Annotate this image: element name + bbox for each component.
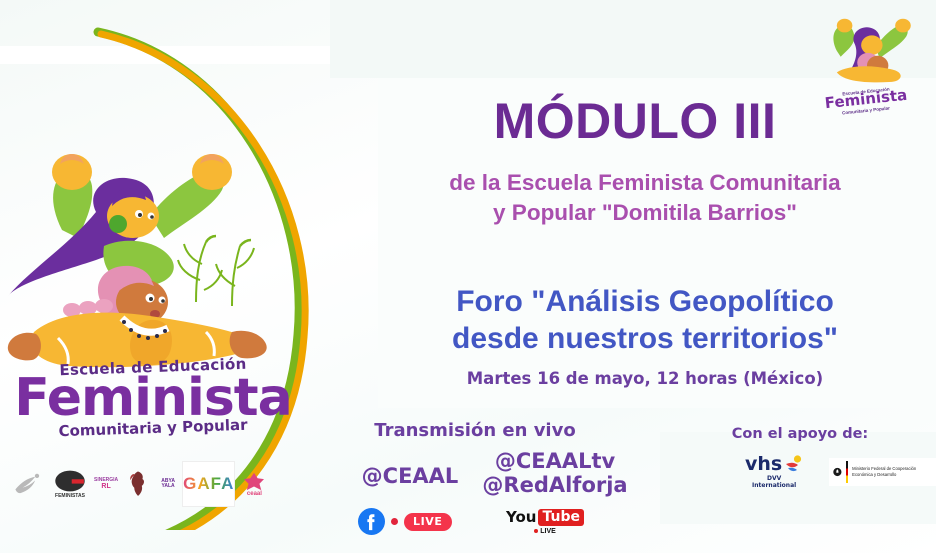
colibri-logo: [10, 462, 46, 506]
vhs-dvv-international-logo: vhs DVV International: [745, 455, 803, 489]
forum-title: Foro "Análisis Geopolítico desde nuestro…: [400, 283, 890, 357]
badge-illustration: [814, 12, 918, 84]
youtube-handle-ceaaltv[interactable]: @CEAALtv: [470, 450, 640, 474]
facebook-live-label: LIVE: [404, 513, 452, 531]
facebook-live-badge[interactable]: LIVE: [358, 508, 452, 535]
partner-logos-row: FEMINISTAS SINERGIA RL ABYA YALA GAFA ce…: [10, 458, 260, 510]
facebook-icon[interactable]: [358, 508, 385, 535]
youtube-live-dot-icon: [534, 529, 538, 533]
plant-decoration: [178, 236, 254, 306]
german-ministry-text: Ministerio Federal de Cooperación Económ…: [852, 466, 932, 477]
forum-title-line-1: Foro "Análisis Geopolítico: [400, 283, 890, 320]
school-subtitle: de la Escuela Feminista Comunitaria y Po…: [390, 168, 900, 227]
red-de-mujeres-logo: FEMINISTAS: [51, 462, 89, 506]
youtube-live-badge[interactable]: You Tube LIVE: [505, 508, 585, 535]
red-de-mujeres-label: FEMINISTAS: [55, 494, 85, 499]
abya-yala-label: ABYA YALA: [159, 479, 177, 490]
live-dot-icon: [391, 518, 398, 525]
ceaal-label: ceaal: [247, 491, 262, 497]
german-flag-bar: [846, 461, 848, 483]
module-title: MÓDULO III: [400, 92, 870, 150]
youtube-live-label: LIVE: [540, 528, 556, 535]
ceaal-logo: ceaal: [240, 462, 268, 506]
forum-title-line-2: desde nuestros territorios": [400, 320, 890, 357]
subtitle-line-1: de la Escuela Feminista Comunitaria: [390, 168, 900, 198]
youtube-handles[interactable]: @CEAALtv @RedAlforja: [470, 450, 640, 497]
vhs-dots-icon: [783, 455, 803, 473]
youtube-handle-redalforja[interactable]: @RedAlforja: [470, 474, 640, 498]
youtube-live-label-wrap: LIVE: [505, 528, 585, 535]
youtube-you-text: You: [506, 508, 536, 526]
facebook-handle[interactable]: @CEAAL: [340, 464, 480, 488]
youtube-tube-text: Tube: [538, 509, 584, 526]
gafa-logo: GAFA: [182, 461, 235, 507]
abya-yala-map-logo: ABYA YALA: [123, 462, 177, 506]
subtitle-line-2: y Popular "Domitila Barrios": [390, 198, 900, 228]
youtube-logo[interactable]: You Tube: [506, 508, 584, 526]
sponsor-logos-row: vhs DVV International Ministerio Federal…: [745, 455, 936, 489]
support-heading: Con el apoyo de:: [700, 426, 900, 442]
sinergia-logo: SINERGIA RL: [94, 462, 118, 506]
event-datetime: Martes 16 de mayo, 12 horas (México): [400, 369, 890, 388]
dvv-international-label: DVV International: [745, 475, 803, 489]
sinergia-mark: RL: [101, 483, 110, 490]
german-ministry-logo: Ministerio Federal de Cooperación Económ…: [829, 458, 936, 486]
vhs-wordmark: vhs: [745, 456, 782, 473]
broadcast-heading: Transmisión en vivo: [340, 420, 610, 441]
two-women-raising-fists-illustration: [0, 120, 300, 380]
escuela-feminista-logo: Escuela de Educación Feminista Comunitar…: [8, 358, 298, 458]
poster-canvas: Escuela de Educación Feminista Comunitar…: [0, 0, 936, 553]
federal-eagle-icon: [833, 466, 842, 478]
gafa-label: GAFA: [183, 475, 234, 493]
